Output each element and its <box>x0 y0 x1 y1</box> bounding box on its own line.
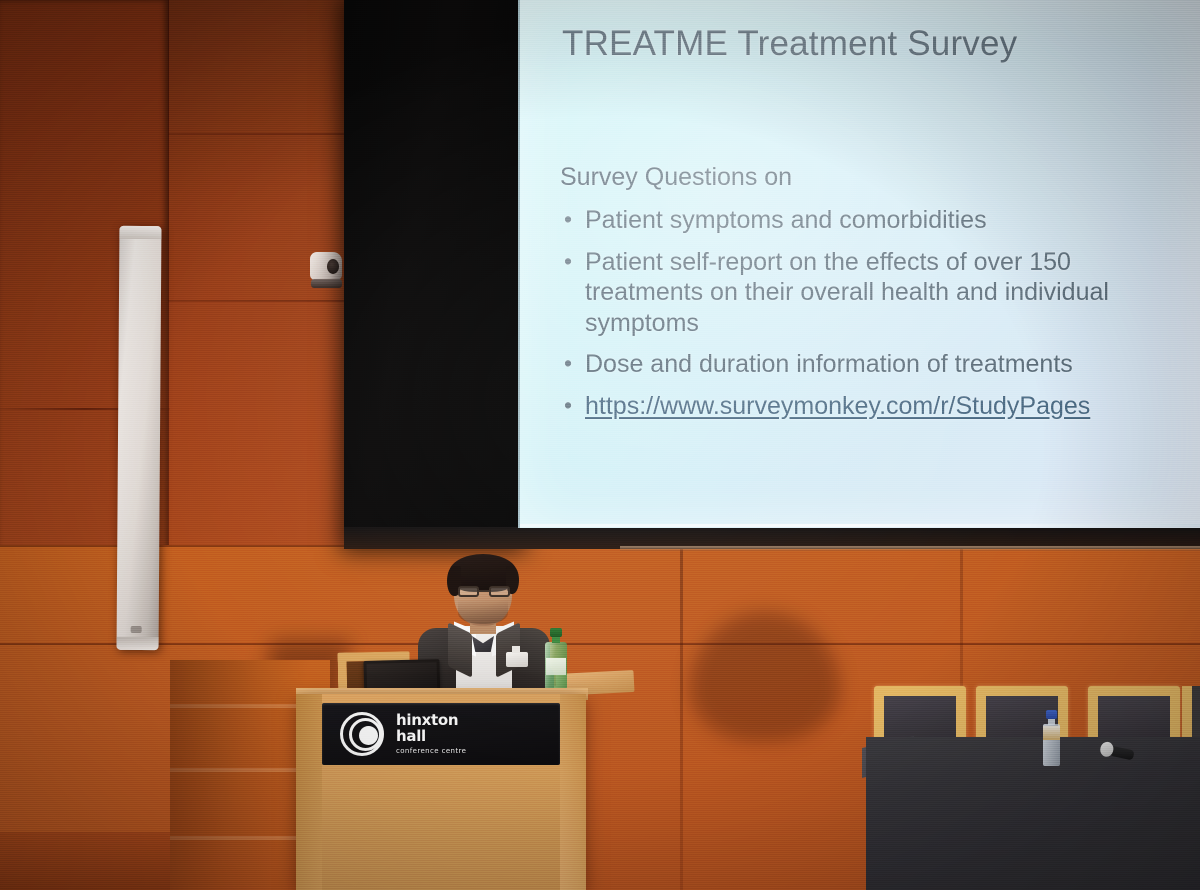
green-bottle <box>545 628 567 690</box>
bullet-glyph: • <box>564 247 572 275</box>
screen-left-edge <box>518 0 520 528</box>
podium-side <box>560 694 586 890</box>
projection-screen: TREATME Treatment Survey Survey Question… <box>518 0 1200 528</box>
screen-bottom-highlight <box>520 524 1200 527</box>
list-item: • Dose and duration information of treat… <box>558 349 1176 380</box>
chair <box>874 686 966 744</box>
panel-table <box>866 737 1200 890</box>
water-bottle <box>1043 710 1060 766</box>
survey-link[interactable]: https://www.surveymonkey.com/r/StudyPage… <box>585 392 1090 420</box>
list-item: • Patient self-report on the effects of … <box>558 247 1176 339</box>
logo-line-1: hinxton <box>396 713 466 728</box>
ptz-camera-icon <box>310 252 344 292</box>
list-item: • https://www.surveymonkey.com/r/StudyPa… <box>558 391 1176 422</box>
slide-title: TREATME Treatment Survey <box>562 24 1180 64</box>
wall-seam <box>680 548 683 890</box>
screen-ledge <box>620 546 1200 551</box>
podium-side <box>296 694 322 890</box>
bullet-glyph: • <box>564 205 572 233</box>
podium-logo-panel: hinxton hall conference centre <box>322 703 560 765</box>
bullet-text: Dose and duration information of treatme… <box>585 350 1073 378</box>
glasses-icon <box>458 586 510 597</box>
column-speaker <box>117 226 162 650</box>
photo-scene: TREATME Treatment Survey Survey Question… <box>0 0 1200 890</box>
bullet-glyph: • <box>564 391 572 419</box>
bullet-glyph: • <box>564 349 572 377</box>
dark-curtain <box>344 0 522 548</box>
slide-bullet-list: • Patient symptoms and comorbidities • P… <box>558 205 1176 421</box>
slide-body: Survey Questions on • Patient symptoms a… <box>558 163 1176 432</box>
name-badge <box>506 652 528 667</box>
logo-line-2: hall <box>396 729 466 744</box>
bullet-text: Patient symptoms and comorbidities <box>585 206 987 234</box>
logo-line-3: conference centre <box>396 748 466 755</box>
hinxton-hall-logo-icon <box>340 712 384 756</box>
slide-lead-text: Survey Questions on <box>560 163 1176 192</box>
list-item: • Patient symptoms and comorbidities <box>558 205 1176 236</box>
bullet-text: Patient self-report on the effects of ov… <box>585 248 1109 337</box>
chair <box>1182 686 1200 744</box>
chair <box>1088 686 1180 744</box>
